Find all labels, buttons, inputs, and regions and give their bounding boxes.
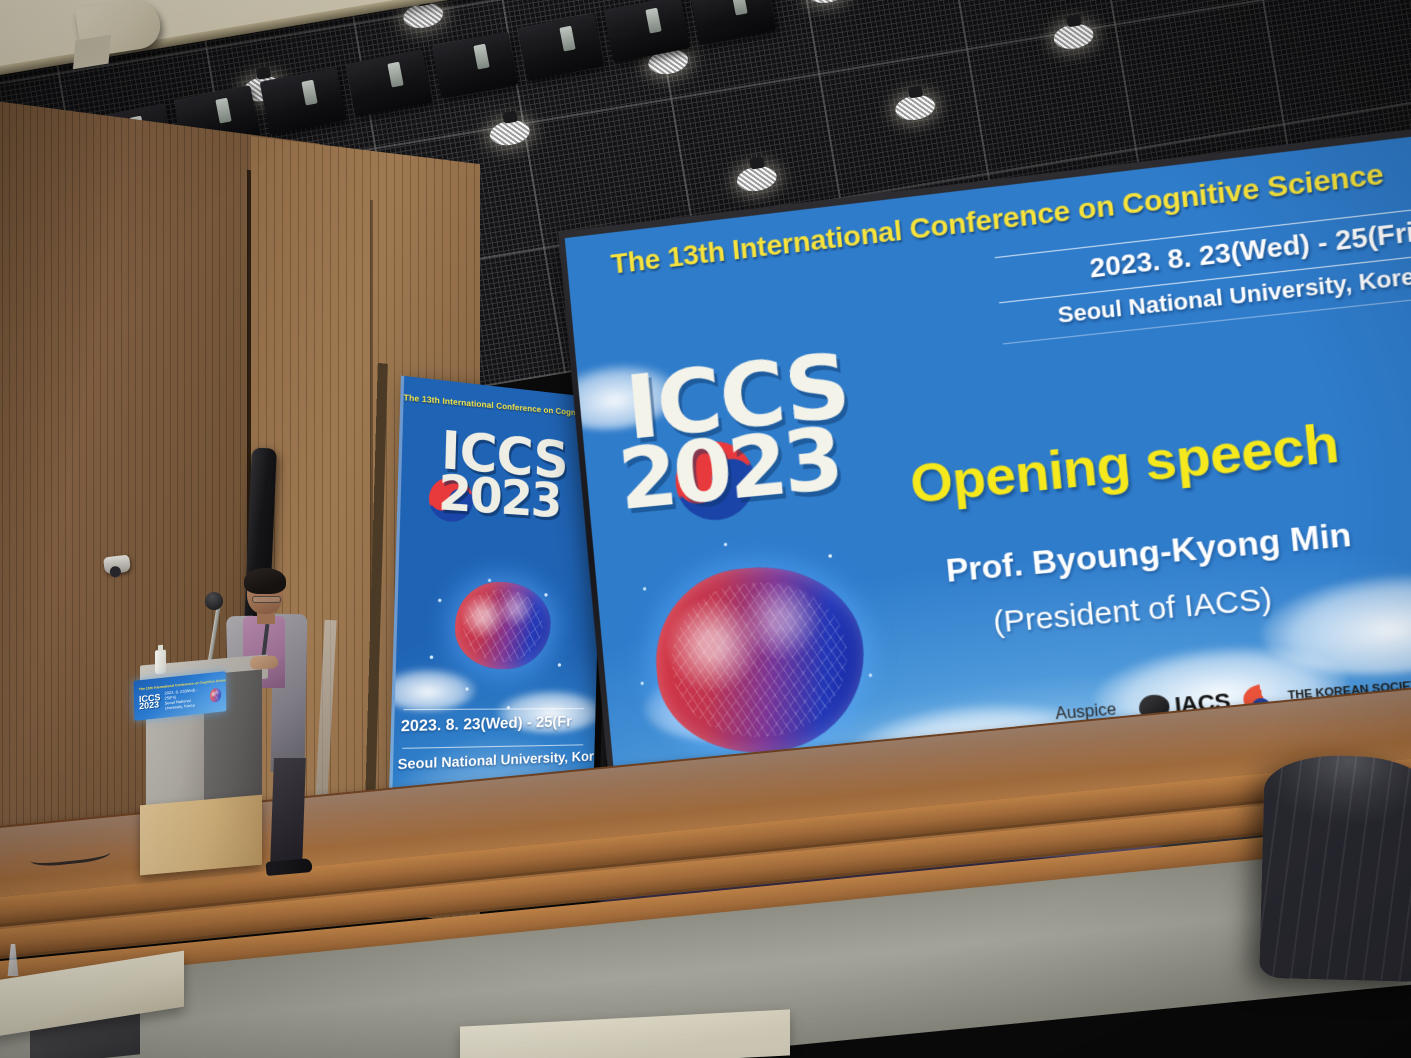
wall-speaker-mount [73,35,111,69]
banner-date: 2023. 8. 23(Wed) - 25(Fr [401,712,594,735]
water-bottle-icon [155,650,166,675]
brain-icon [648,558,872,759]
brain-icon [209,688,221,703]
cloud-decoration [387,668,476,711]
podium-sign-details: 2023. 8. 23(Wed) - 25(Fri) Seoul Nationa… [164,686,205,710]
auditorium-scene: The 13th International Conference on Cog… [0,0,1411,1058]
banner-rule [403,708,584,710]
draped-table [1259,754,1411,982]
speaker-hands [250,655,279,669]
podium-sign-logo: ICCS 2023 [139,694,161,711]
glasses-icon [252,596,281,603]
speaker-hair [244,568,286,594]
banner-location: Seoul National University, Kore [397,748,598,772]
podium-base [140,795,262,876]
screen-speaker-role: (President of IACS) [992,582,1274,641]
brain-icon [454,580,552,669]
drape-folds [1259,754,1411,982]
screen-speaker-name: Prof. Byoung-Kyong Min [944,515,1353,590]
screen-logo: ICCS 2023 [623,350,858,515]
screen-logo-2023: 2023 [616,422,858,516]
cloud-decoration [1257,565,1411,684]
wall-seam [370,200,373,860]
banner-rule [402,744,583,749]
banner-logo: ICCS 2023 [400,425,602,524]
speaker-legs [270,758,306,868]
screen-headline: Opening speech [908,412,1342,516]
